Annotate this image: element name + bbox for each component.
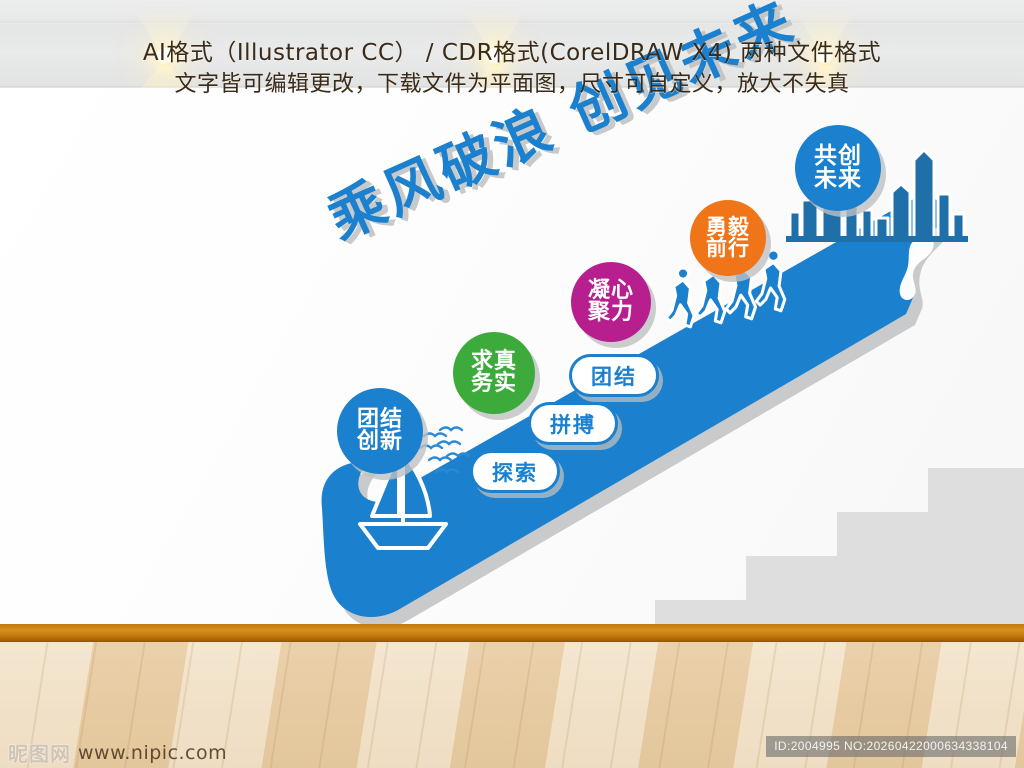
image-id-badge: ID:2004995 NO:20260422000634338104 [766, 736, 1016, 757]
footer-text-block: AI格式（Illustrator CC） / CDR格式(CorelDRAW X… [0, 38, 1024, 100]
watermark-brand: 昵图网 [8, 738, 71, 767]
badge-tuanjie-chuangxin[interactable]: 团结 创新 [337, 388, 423, 474]
watermark-url: www.nipic.com [78, 742, 227, 764]
poster-canvas: 乘风破浪 创见未来 共创 未来 勇毅 前行 凝心 聚力 求真 务实 团结 创新 … [0, 0, 1024, 768]
badge-ningxin-juli[interactable]: 凝心 聚力 [571, 262, 651, 342]
badge-line2: 聚力 [588, 302, 634, 324]
badge-gongchuang-weilai[interactable]: 共创 未来 [795, 125, 881, 211]
boat-hull [360, 524, 446, 548]
watermark: 昵图网 www.nipic.com [8, 738, 227, 767]
badge-tansuo[interactable]: 探索 [470, 450, 560, 493]
badge-line1: 勇毅 [706, 217, 750, 238]
badge-yongyi-qianxing[interactable]: 勇毅 前行 [690, 200, 766, 276]
badge-line2: 创新 [357, 431, 403, 453]
badge-line2: 务实 [471, 373, 517, 395]
badge-qiuzhen-wushi[interactable]: 求真 务实 [453, 332, 535, 414]
badge-pinbo[interactable]: 拼搏 [528, 402, 618, 445]
footer-line-2: 文字皆可编辑更改，下载文件为平面图，尺寸可自定义，放大不失真 [0, 69, 1024, 100]
badge-line2: 未来 [814, 168, 862, 191]
badge-line1: 求真 [471, 351, 517, 373]
badge-line1: 团结 [357, 409, 403, 431]
badge-line1: 共创 [814, 145, 862, 168]
footer-line-1: AI格式（Illustrator CC） / CDR格式(CorelDRAW X… [0, 38, 1024, 69]
badge-line2: 前行 [706, 238, 750, 259]
floor-skirting [0, 624, 1024, 642]
badge-tuanjie[interactable]: 团结 [569, 354, 659, 397]
badge-line1: 凝心 [588, 280, 634, 302]
